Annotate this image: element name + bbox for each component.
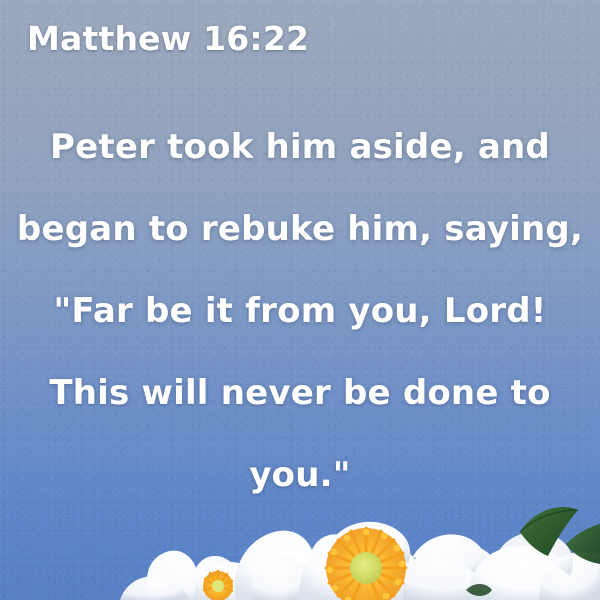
flower-center-left xyxy=(235,531,368,600)
leaf-small-bottom xyxy=(466,584,492,596)
flower-main-stamens xyxy=(326,528,406,600)
verse-text: Peter took him aside, and began to rebuk… xyxy=(0,106,600,516)
flower-left xyxy=(120,551,264,600)
verse-line: This will never be done to xyxy=(0,352,600,434)
verse-image: Matthew 16:22 Peter took him aside, and … xyxy=(0,0,600,600)
flower-right xyxy=(470,532,600,600)
verse-line: you." xyxy=(0,434,600,516)
verse-line: Peter took him aside, and xyxy=(0,106,600,188)
verse-reference: Matthew 16:22 xyxy=(27,19,309,58)
leaf-right-lower xyxy=(566,524,600,564)
verse-line: "Far be it from you, Lord! xyxy=(0,270,600,352)
stamen-cluster-left xyxy=(203,571,233,600)
verse-line: began to rebuke him, saying, xyxy=(0,188,600,270)
flower-main xyxy=(300,522,507,600)
